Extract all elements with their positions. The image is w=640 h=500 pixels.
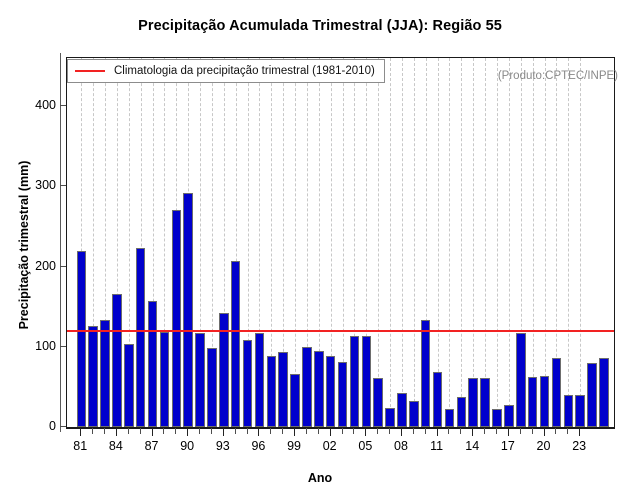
bar: [77, 251, 87, 427]
bar: [362, 336, 372, 427]
x-axis-tick: [448, 428, 449, 434]
precipitation-bar-chart: Precipitação Acumulada Trimestral (JJA):…: [0, 0, 640, 500]
bar: [255, 333, 265, 427]
y-axis-tick-label: 400: [35, 98, 56, 112]
bar: [350, 336, 360, 427]
bar: [457, 397, 467, 427]
x-axis-tick: [484, 428, 485, 434]
bar: [160, 332, 170, 427]
bar: [492, 409, 502, 427]
x-axis-tick-label: 93: [216, 439, 230, 453]
x-axis-tick-label: 90: [180, 439, 194, 453]
x-axis-tick-label: 05: [358, 439, 372, 453]
x-axis-tick: [247, 428, 248, 434]
bar: [207, 348, 217, 427]
x-axis-tick: [294, 428, 295, 436]
legend-line-swatch-icon: [75, 70, 105, 72]
x-axis-tick: [199, 428, 200, 434]
x-axis-tick: [342, 428, 343, 434]
bar: [326, 356, 336, 427]
bar: [540, 376, 550, 427]
x-axis-tick: [413, 428, 414, 434]
x-axis-title: Ano: [0, 471, 640, 485]
bar: [267, 356, 277, 427]
x-axis-tick-label: 17: [501, 439, 515, 453]
x-axis-tick-label: 99: [287, 439, 301, 453]
bar: [373, 378, 383, 427]
x-axis-tick: [425, 428, 426, 434]
x-axis-tick: [437, 428, 438, 436]
x-axis-line: [66, 428, 615, 429]
bar: [445, 409, 455, 427]
bar: [278, 352, 288, 427]
x-axis-tick: [270, 428, 271, 434]
x-axis-tick-label: 02: [323, 439, 337, 453]
bar: [338, 362, 348, 427]
bar: [528, 377, 538, 427]
x-axis-tick-label: 14: [465, 439, 479, 453]
bar: [564, 395, 574, 427]
x-axis-tick: [555, 428, 556, 434]
x-axis-tick: [258, 428, 259, 436]
bar: [88, 326, 98, 427]
bar: [468, 378, 478, 427]
x-axis-tick-label: 96: [251, 439, 265, 453]
x-axis-tick: [401, 428, 402, 436]
x-axis-tick: [520, 428, 521, 434]
x-axis-tick: [579, 428, 580, 436]
chart-title: Precipitação Acumulada Trimestral (JJA):…: [0, 18, 640, 34]
bar: [290, 374, 300, 427]
y-axis-title: Precipitação trimestral (mm): [17, 125, 31, 365]
x-axis-tick: [223, 428, 224, 436]
x-axis-tick: [140, 428, 141, 434]
x-axis-tick: [163, 428, 164, 434]
y-axis-tick-label: 300: [35, 178, 56, 192]
x-axis-tick-label: 84: [109, 439, 123, 453]
legend-label: Climatologia da precipitação trimestral …: [114, 65, 375, 77]
plot-area: [66, 57, 615, 428]
x-axis-tick-label: 23: [572, 439, 586, 453]
x-axis-tick: [318, 428, 319, 434]
x-axis-tick: [544, 428, 545, 436]
bar: [421, 320, 431, 427]
x-axis-tick-label: 81: [73, 439, 87, 453]
x-axis-tick: [175, 428, 176, 434]
climatology-reference-line: [67, 330, 614, 332]
x-axis-tick: [472, 428, 473, 436]
bar: [516, 333, 526, 427]
bar: [433, 372, 443, 427]
x-axis-tick: [152, 428, 153, 436]
x-axis-tick: [496, 428, 497, 434]
producer-annotation: (Produto:CPTEC/INPE): [498, 70, 618, 82]
x-axis-tick-label: 11: [430, 439, 443, 453]
y-axis-tick-label: 100: [35, 339, 56, 353]
x-axis-tick-label: 20: [537, 439, 551, 453]
x-axis-tick: [306, 428, 307, 434]
bar: [575, 395, 585, 427]
y-axis-tick-label: 0: [49, 419, 56, 433]
x-axis-tick: [128, 428, 129, 434]
bar: [587, 363, 597, 427]
bar: [148, 301, 158, 427]
x-axis-tick: [377, 428, 378, 434]
x-axis-tick: [330, 428, 331, 436]
bar: [243, 340, 253, 427]
bar: [504, 405, 514, 427]
bar: [397, 393, 407, 427]
x-axis-tick: [389, 428, 390, 434]
x-axis-tick-label: 87: [145, 439, 159, 453]
x-axis-tick: [211, 428, 212, 434]
bar: [302, 347, 312, 427]
x-axis-tick: [365, 428, 366, 436]
bar: [100, 320, 110, 427]
bar: [385, 408, 395, 427]
x-axis-tick-label: 08: [394, 439, 408, 453]
bar: [480, 378, 490, 427]
x-axis-tick: [353, 428, 354, 434]
bars-layer: [67, 58, 614, 427]
bar: [124, 344, 134, 427]
x-axis-tick: [282, 428, 283, 434]
x-axis-tick: [508, 428, 509, 436]
y-axis-tick-label: 200: [35, 259, 56, 273]
x-axis-tick: [187, 428, 188, 436]
bar: [599, 358, 609, 427]
x-axis-tick: [567, 428, 568, 434]
bar: [409, 401, 419, 427]
bar: [172, 210, 182, 427]
x-axis-tick: [92, 428, 93, 434]
bar: [314, 351, 324, 427]
x-axis-tick: [532, 428, 533, 434]
x-axis-tick: [104, 428, 105, 434]
bar: [183, 193, 193, 427]
x-axis-tick: [460, 428, 461, 434]
bar: [112, 294, 122, 427]
x-axis: 818487909396990205081114172023: [66, 428, 615, 438]
x-axis-tick: [235, 428, 236, 434]
legend: Climatologia da precipitação trimestral …: [67, 59, 385, 83]
bar: [552, 358, 562, 427]
x-axis-tick: [116, 428, 117, 436]
bar: [231, 261, 241, 427]
bar: [195, 333, 205, 427]
x-axis-tick: [80, 428, 81, 436]
bar: [136, 248, 146, 427]
